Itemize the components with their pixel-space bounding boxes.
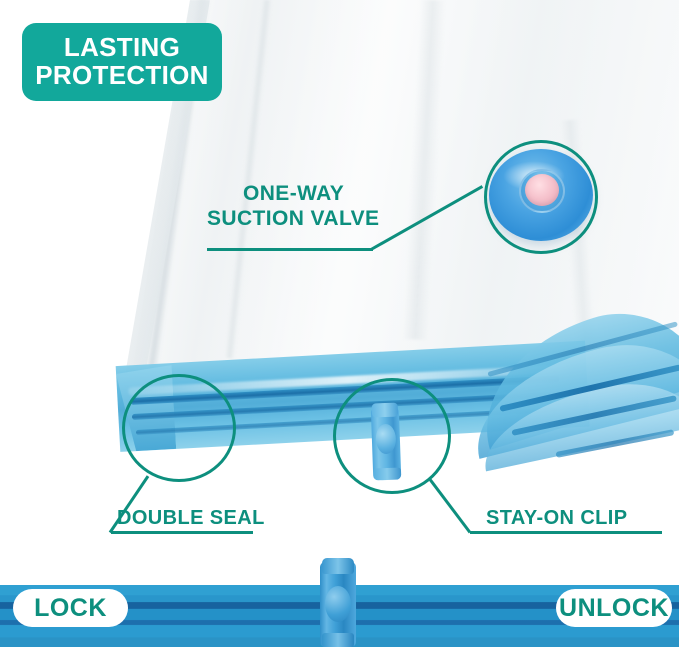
callout-label-line2: SUCTION VALVE xyxy=(207,207,507,232)
product-infographic: ONE-WAY SUCTION VALVE DOUBLE SEAL STAY-O… xyxy=(0,0,679,647)
badge-line2: PROTECTION xyxy=(35,62,208,90)
double-seal-callout-underline xyxy=(111,531,253,534)
zipper-slider-object xyxy=(320,562,356,647)
slider-grip xyxy=(325,586,351,622)
stay-on-clip-callout-underline xyxy=(470,531,662,534)
valve-callout-underline xyxy=(207,248,373,251)
lock-label-pill: LOCK xyxy=(13,589,128,627)
callout-label-one-way-suction-valve: ONE-WAY SUCTION VALVE xyxy=(207,182,507,232)
lasting-protection-badge: LASTING PROTECTION xyxy=(22,23,222,101)
slider-foot xyxy=(322,633,354,647)
slider-head xyxy=(322,558,354,574)
double-seal-callout-circle xyxy=(122,374,236,482)
badge-line1: LASTING xyxy=(64,34,180,62)
stay-on-clip-callout-circle xyxy=(333,378,451,494)
callout-label-stay-on-clip: STAY-ON CLIP xyxy=(486,507,628,531)
unlock-label-pill: UNLOCK xyxy=(556,589,672,627)
callout-label-line1: ONE-WAY xyxy=(243,182,507,207)
callout-label-double-seal: DOUBLE SEAL xyxy=(117,507,265,531)
